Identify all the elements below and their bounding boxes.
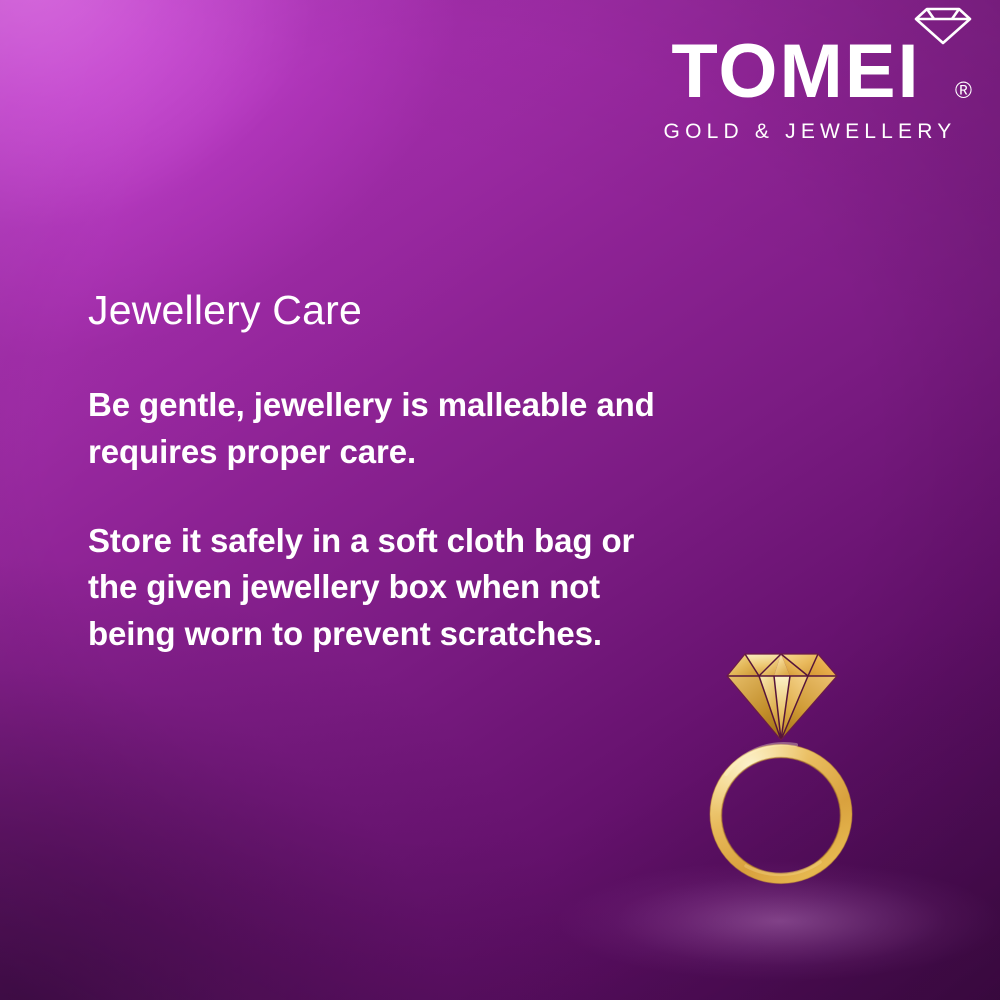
brand-logo: TOMEI ® GOLD & JEWELLERY — [648, 6, 978, 144]
gold-diamond-ring-illustration — [700, 650, 870, 900]
logo-tagline: GOLD & JEWELLERY — [648, 120, 978, 144]
care-copy-block: Jewellery Care Be gentle, jewellery is m… — [88, 288, 668, 658]
logo-wordmark: TOMEI ® — [648, 34, 978, 110]
poster-canvas: TOMEI ® GOLD & JEWELLERY Jewellery Care … — [0, 0, 1000, 1000]
care-paragraph-1: Be gentle, jewellery is malleable and re… — [88, 382, 668, 476]
diamond-gem-icon — [727, 654, 837, 740]
logo-wordmark-text: TOMEI — [671, 29, 920, 114]
page-title: Jewellery Care — [88, 288, 668, 334]
registered-trademark-icon: ® — [955, 79, 974, 102]
ring-band-icon — [700, 730, 870, 900]
care-paragraph-2: Store it safely in a soft cloth bag or t… — [88, 518, 668, 659]
